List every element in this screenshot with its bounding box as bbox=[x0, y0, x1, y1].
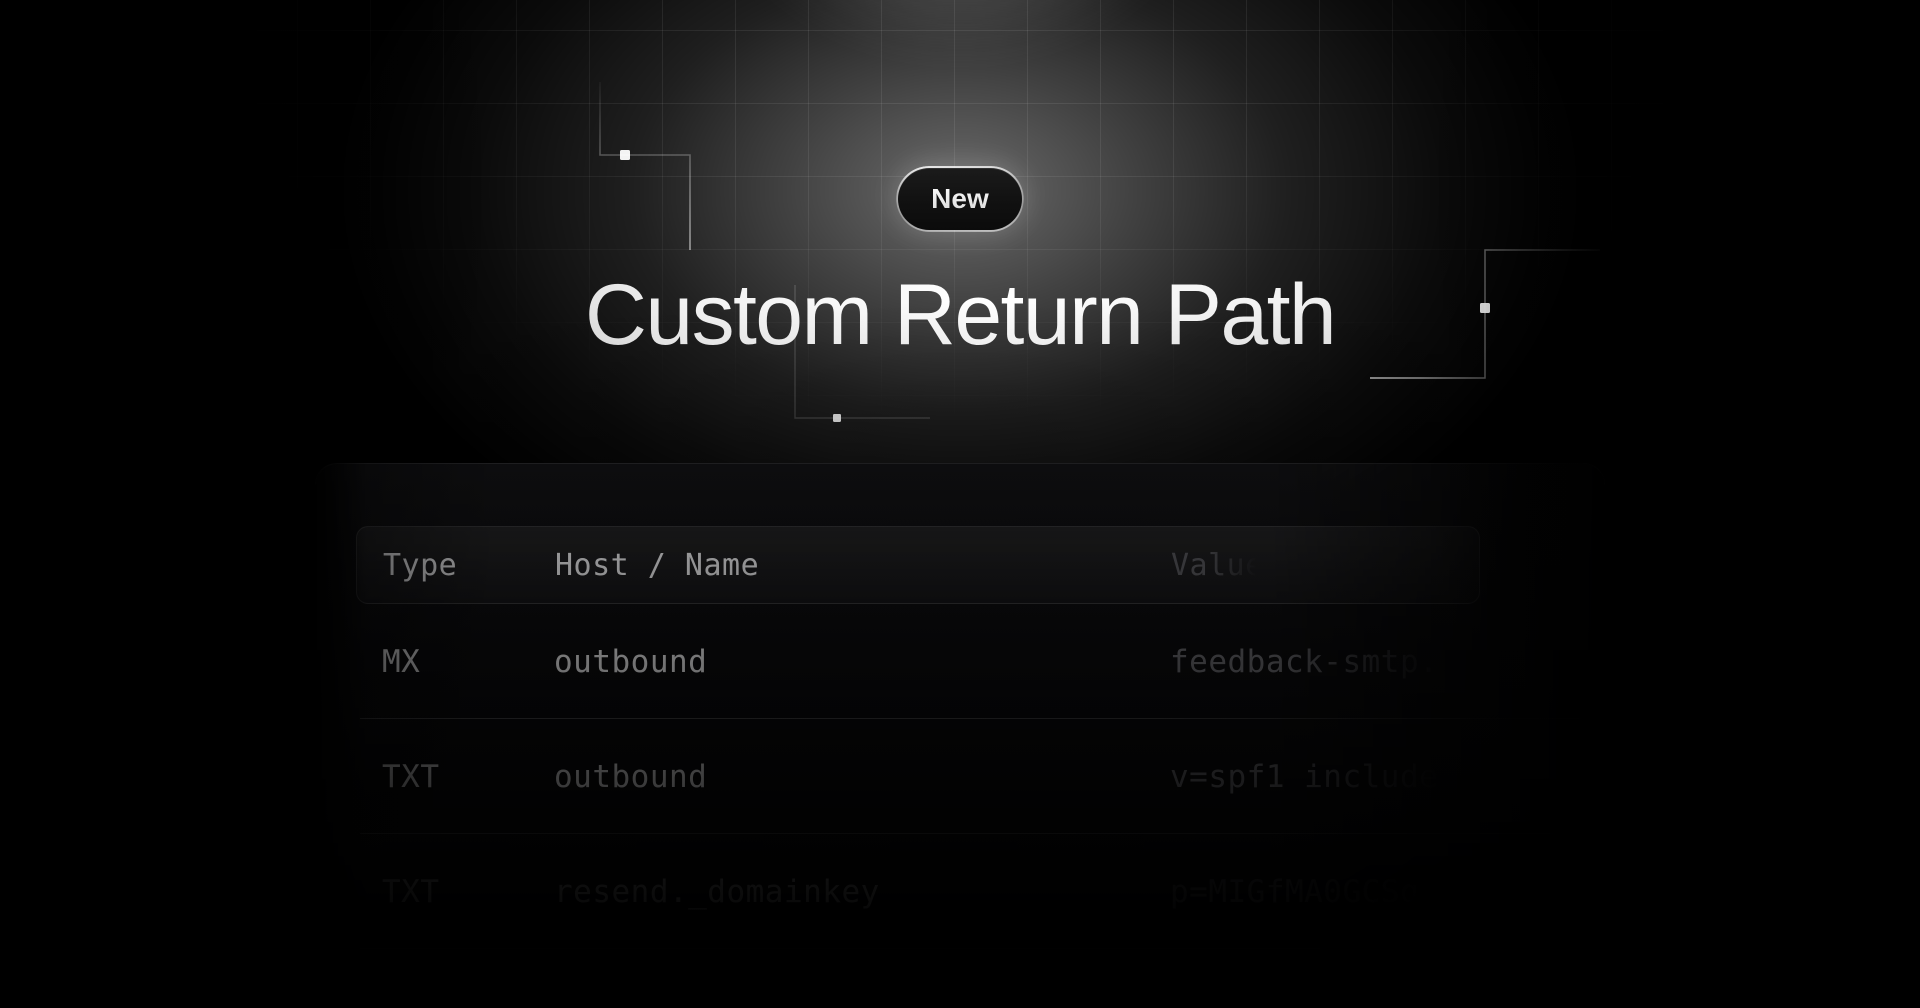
column-header-type: Type bbox=[357, 548, 555, 583]
background-glow-hotspot bbox=[650, 0, 1270, 105]
cell-value: v=spf1 include: bbox=[1170, 759, 1480, 795]
dns-records-card: Type Host / Name Value MX outbound feedb… bbox=[315, 463, 1605, 1008]
cell-value: feedback-smtp.u bbox=[1170, 644, 1480, 680]
cell-type: MX bbox=[356, 644, 554, 680]
column-header-value: Value bbox=[1171, 548, 1479, 583]
cell-type: TXT bbox=[356, 759, 554, 795]
table-row[interactable]: MX outbound feedback-smtp.u bbox=[356, 604, 1480, 719]
page-title: Custom Return Path bbox=[0, 268, 1920, 363]
cell-type: TXT bbox=[356, 874, 554, 910]
new-badge-row: New bbox=[0, 168, 1920, 230]
table-header-row: Type Host / Name Value bbox=[356, 526, 1480, 604]
cell-value: p=MIGfMA0GCSqG bbox=[1170, 874, 1480, 910]
column-header-host: Host / Name bbox=[555, 548, 1171, 583]
cell-host: resend._domainkey bbox=[554, 874, 1170, 910]
hero-banner: New Custom Return Path Type Host / Name … bbox=[0, 0, 1920, 1008]
table-row[interactable]: TXT resend._domainkey p=MIGfMA0GCSqG bbox=[356, 834, 1480, 949]
cell-host: outbound bbox=[554, 644, 1170, 680]
table-row[interactable]: TXT outbound v=spf1 include: bbox=[356, 719, 1480, 834]
cell-host: outbound bbox=[554, 759, 1170, 795]
new-badge[interactable]: New bbox=[898, 168, 1022, 230]
new-badge-label: New bbox=[931, 183, 989, 215]
dns-records-table: Type Host / Name Value MX outbound feedb… bbox=[356, 526, 1605, 949]
